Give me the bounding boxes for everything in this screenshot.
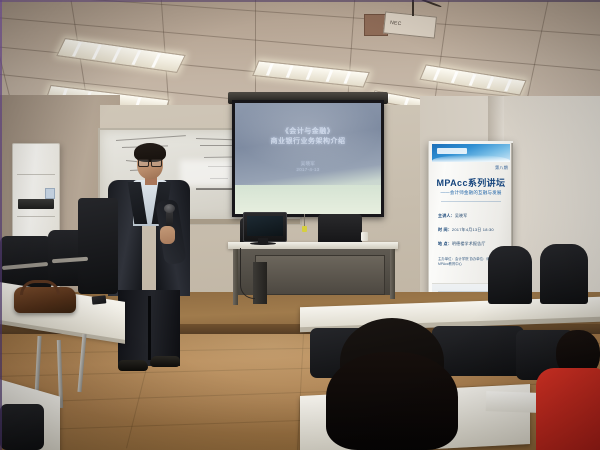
banner-info-label: 主讲人： (438, 213, 455, 218)
slide-date: 2017-4-13 (235, 167, 381, 173)
screen-pull-cord (304, 214, 305, 228)
chair (0, 404, 44, 450)
speaker-leg-gap (148, 296, 151, 360)
projection-screen: 《会计与金融》 商业银行业务架构介绍 吴晓军 2017-4-13 (235, 103, 381, 214)
teacher-desk-leg (390, 249, 395, 299)
desk-cable (240, 248, 255, 299)
computer-tower (253, 262, 267, 304)
air-conditioner-vent (18, 199, 54, 209)
chair (78, 198, 118, 294)
banner-info-value: 吴晓军 (455, 213, 468, 218)
chair (432, 326, 524, 376)
banner-subtitle: ——会计师金融的互融与发展 (429, 190, 513, 196)
desk-chair (318, 214, 362, 244)
banner-info-label: 地 点： (438, 241, 452, 246)
banner-divider (441, 201, 501, 202)
projector-cable (412, 0, 414, 16)
teacher-desk-leg (233, 249, 238, 305)
speaker-hand (160, 226, 175, 244)
slide-lower-band (235, 185, 381, 214)
glasses-icon (138, 159, 162, 165)
slide-title-line2: 商业银行业务架构介绍 (235, 137, 381, 147)
slide-title: 《会计与金融》 商业银行业务架构介绍 (235, 127, 381, 147)
slide-subtext: 吴晓军 2017-4-13 (235, 161, 381, 173)
air-conditioner-display (45, 188, 55, 199)
speaker-shoe (150, 356, 180, 367)
banner-issue-label: 第八期 (495, 165, 508, 171)
classroom-photo: NEC 《会计与金融》 (0, 0, 600, 450)
banner-logo (437, 148, 467, 154)
banner-info-value: 2017年4月13日 18:30 (452, 227, 494, 232)
monitor-base (250, 242, 276, 245)
banner-info-label: 时 间： (438, 227, 452, 232)
microphone-head (164, 204, 175, 213)
paper-sheet (486, 391, 539, 413)
chair (540, 244, 588, 304)
banner-info-row: 时 间：2017年4月13日 18:30 (438, 227, 494, 233)
mobile-phone (92, 295, 107, 304)
banner-title: MPAcc系列讲坛 (429, 176, 513, 189)
projector-brand-text: NEC (390, 20, 402, 27)
paper-cup (361, 232, 368, 241)
projection-screen-frame: 《会计与金融》 商业银行业务架构介绍 吴晓军 2017-4-13 (232, 100, 384, 217)
chair (488, 246, 532, 304)
bag-strap (20, 280, 60, 295)
banner-header-graphic (432, 144, 510, 162)
student-foreground-hair (326, 352, 458, 450)
speaker-shoe (118, 360, 148, 371)
slide-title-line1: 《会计与金融》 (235, 127, 381, 137)
student-red-jacket (536, 368, 600, 450)
banner-info-row: 主讲人：吴晓军 (438, 213, 467, 219)
banner-info-row: 地 点：明德楼学术报告厅 (438, 241, 486, 247)
teacher-desk-panel (255, 255, 385, 295)
banner-info-value: 明德楼学术报告厅 (452, 241, 486, 246)
